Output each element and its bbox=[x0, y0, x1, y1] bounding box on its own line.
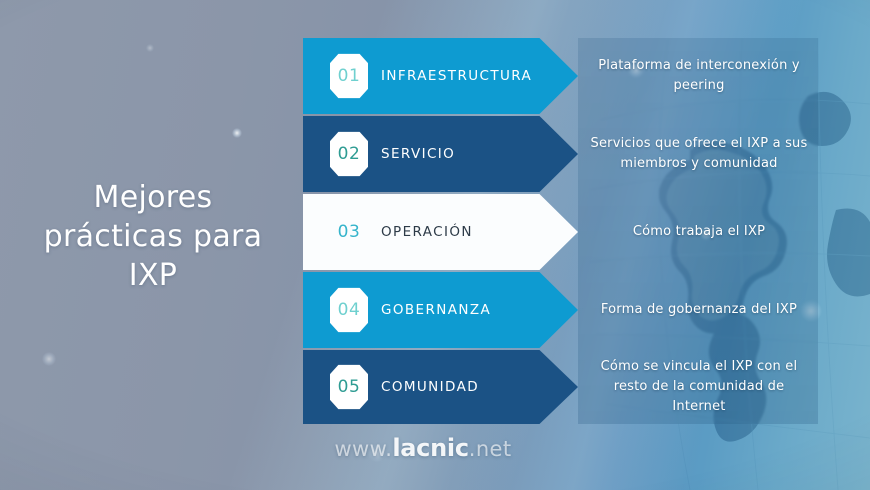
step-number-badge: 01 bbox=[330, 53, 368, 99]
logo-suffix: .net bbox=[469, 437, 512, 461]
step-description: Servicios que ofrece el IXP a sus miembr… bbox=[588, 134, 810, 174]
step-number-badge: 02 bbox=[330, 131, 368, 177]
lacnic-logo: www.lacnic.net bbox=[303, 434, 543, 462]
step-number-badge: 04 bbox=[330, 287, 368, 333]
step-row[interactable]: 05 COMUNIDAD Cómo se vincula el IXP con … bbox=[303, 350, 818, 424]
step-label: INFRAESTRUCTURA bbox=[381, 68, 532, 84]
slide-canvas: Mejores prácticas para IXP 01 INFRAESTRU… bbox=[0, 0, 870, 490]
step-number: 03 bbox=[338, 222, 361, 242]
step-number: 04 bbox=[338, 300, 361, 320]
step-row[interactable]: 04 GOBERNANZA Forma de gobernanza del IX… bbox=[303, 272, 818, 348]
step-label: GOBERNANZA bbox=[381, 302, 491, 318]
step-description: Plataforma de interconexión y peering bbox=[588, 56, 810, 96]
slide-title-line-3: IXP bbox=[18, 256, 288, 295]
step-label: SERVICIO bbox=[381, 146, 455, 162]
step-row[interactable]: 01 INFRAESTRUCTURA Plataforma de interco… bbox=[303, 38, 818, 114]
step-description: Cómo se vincula el IXP con el resto de l… bbox=[588, 357, 810, 417]
logo-brand: lacnic bbox=[392, 434, 468, 462]
step-row[interactable]: 02 SERVICIO Servicios que ofrece el IXP … bbox=[303, 116, 818, 192]
step-label: COMUNIDAD bbox=[381, 379, 479, 395]
slide-title-line-2: prácticas para bbox=[18, 217, 288, 256]
step-number: 01 bbox=[338, 66, 361, 86]
steps-list: 01 INFRAESTRUCTURA Plataforma de interco… bbox=[303, 38, 818, 424]
slide-title: Mejores prácticas para IXP bbox=[18, 178, 288, 295]
step-number: 02 bbox=[338, 144, 361, 164]
step-row-active[interactable]: 03 OPERACIÓN Cómo trabaja el IXP bbox=[303, 194, 818, 270]
logo-prefix: www. bbox=[334, 437, 392, 461]
step-number-badge: 03 bbox=[330, 209, 368, 255]
step-description: Forma de gobernanza del IXP bbox=[588, 300, 810, 320]
step-description: Cómo trabaja el IXP bbox=[588, 222, 810, 242]
step-number: 05 bbox=[338, 377, 361, 397]
step-label: OPERACIÓN bbox=[381, 224, 473, 240]
step-number-badge: 05 bbox=[330, 364, 368, 410]
steps-panel: 01 INFRAESTRUCTURA Plataforma de interco… bbox=[303, 38, 818, 424]
slide-title-line-1: Mejores bbox=[18, 178, 288, 217]
